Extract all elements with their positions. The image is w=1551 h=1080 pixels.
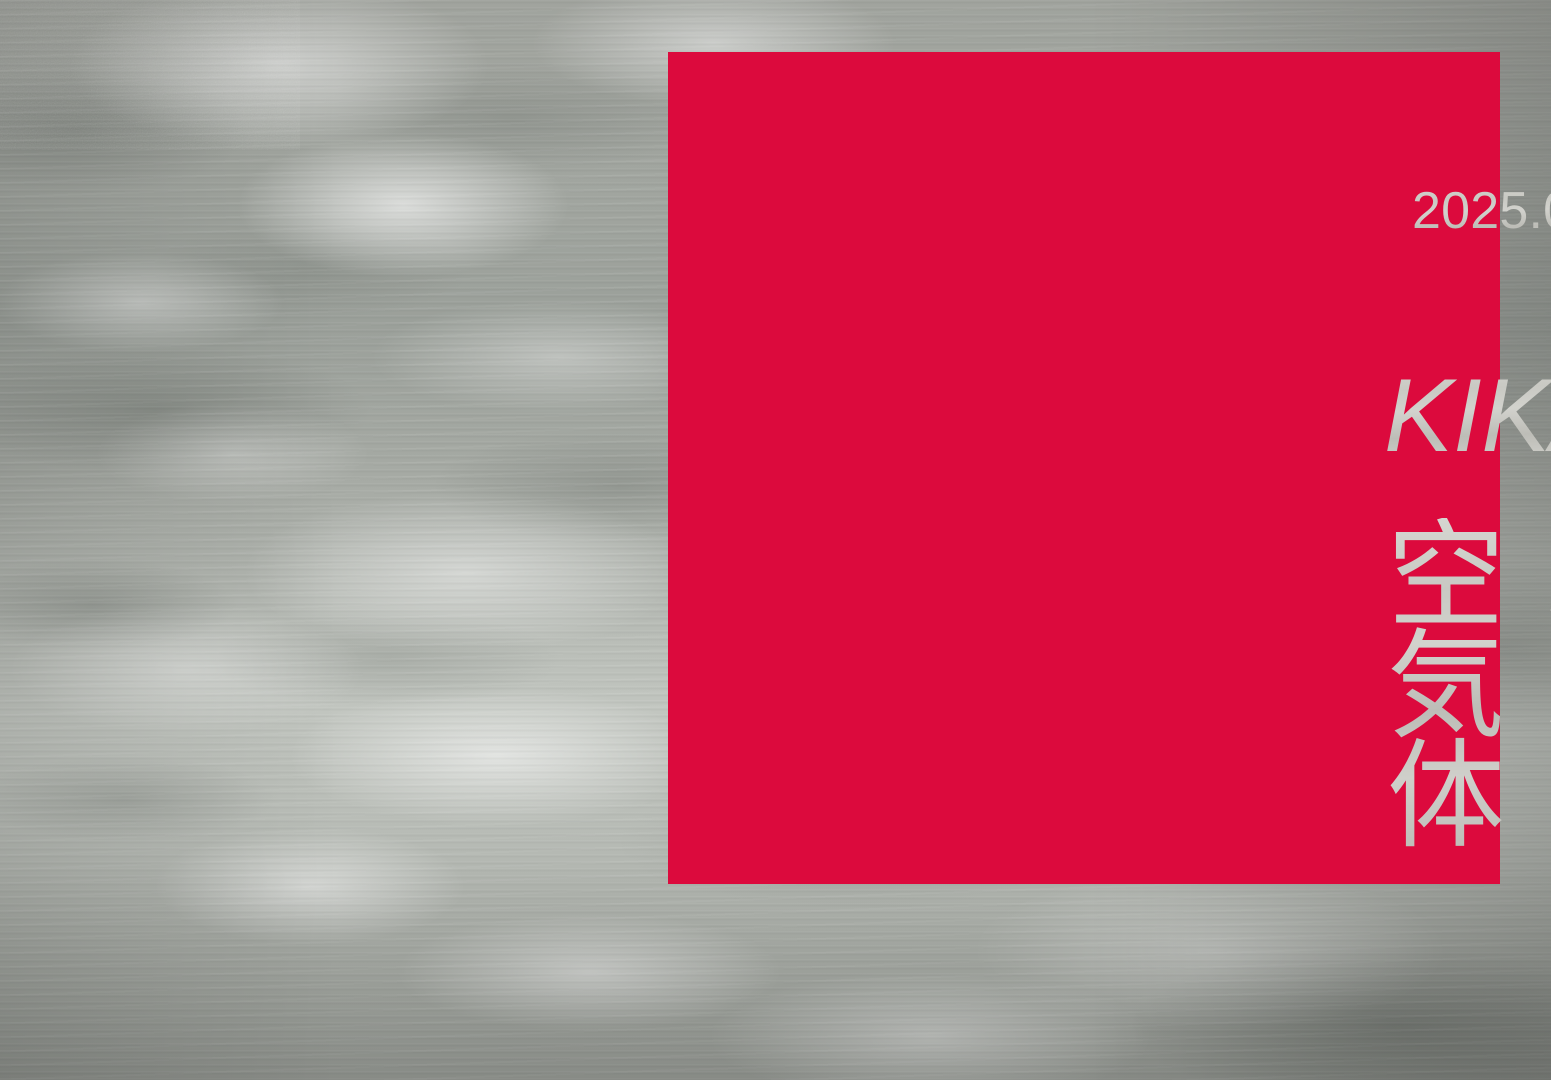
red-panel: 2025.05.23 (Fri) - 07.06 (Sun) KIKA coll… (668, 52, 1500, 884)
kanji-char-1: 空 (1382, 518, 1510, 628)
kanji-vertical-title: 空 気 体 (1382, 518, 1510, 848)
exhibition-dates: 2025.05.23 (Fri) - 07.06 (Sun) (1412, 183, 1551, 240)
exhibition-title: KIKA collection (1384, 362, 1551, 471)
exhibition-poster: 2025.05.23 (Fri) - 07.06 (Sun) KIKA coll… (0, 0, 1551, 1080)
kanji-char-3: 体 (1382, 738, 1510, 848)
kanji-char-2: 気 (1382, 628, 1510, 738)
